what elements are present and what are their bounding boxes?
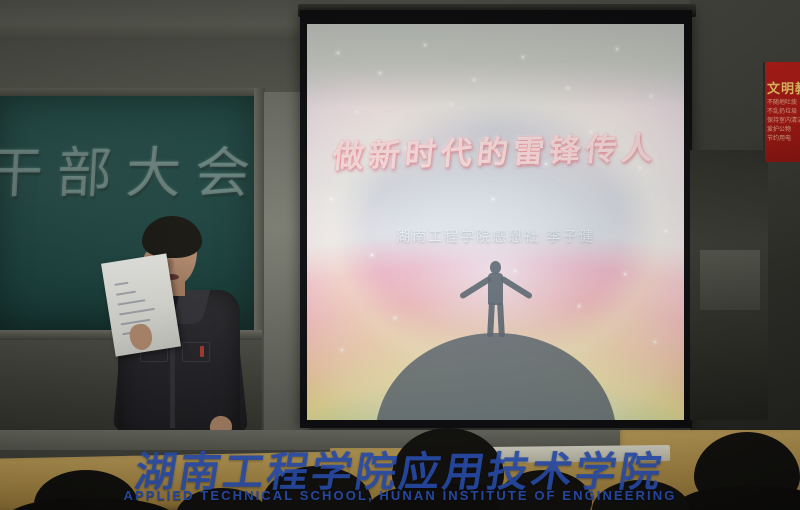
projector-screen: 做新时代的雷锋传人 湖南工程学院感恩社 李子健 [307,24,684,420]
rules-line-2: 不乱扔垃圾 [767,107,800,116]
rules-line-5: 节约用电 [767,134,800,143]
slide-subtitle: 湖南工程学院感恩社 李子健 [307,226,684,246]
door-panel [700,250,760,310]
silhouette-left-leg [487,303,495,337]
rules-line-1: 不随地吐痰 [767,98,800,107]
silhouette-torso [488,273,503,305]
lecture-hall-photo: 干部大会 做新时代的雷锋传人 湖南工程学院感恩社 李子健 [0,0,800,510]
speaker-hair [142,216,202,258]
silhouette-right-arm [499,275,533,299]
rules-sign-lines: 不随地吐痰 不乱扔垃圾 保持室内清洁 爱护公物 节约用电 [767,98,800,143]
silhouette-left-arm [458,275,492,299]
rules-line-3: 保持室内清洁 [767,116,800,125]
silhouette-right-leg [497,303,505,337]
slide-person-silhouette [453,261,539,341]
rules-line-4: 爱护公物 [767,125,800,134]
desk-paper-surface [480,445,670,463]
rules-sign-title: 文明教室 [767,78,800,97]
speaker-jacket-brand-tab [200,346,204,357]
classroom-rules-sign: 文明教室 不随地吐痰 不乱扔垃圾 保持室内清洁 爱护公物 节约用电 [763,62,800,162]
speaker-jacket-pocket-right [182,342,210,362]
speaker-nose [168,259,174,269]
speaker-figure [104,216,254,446]
